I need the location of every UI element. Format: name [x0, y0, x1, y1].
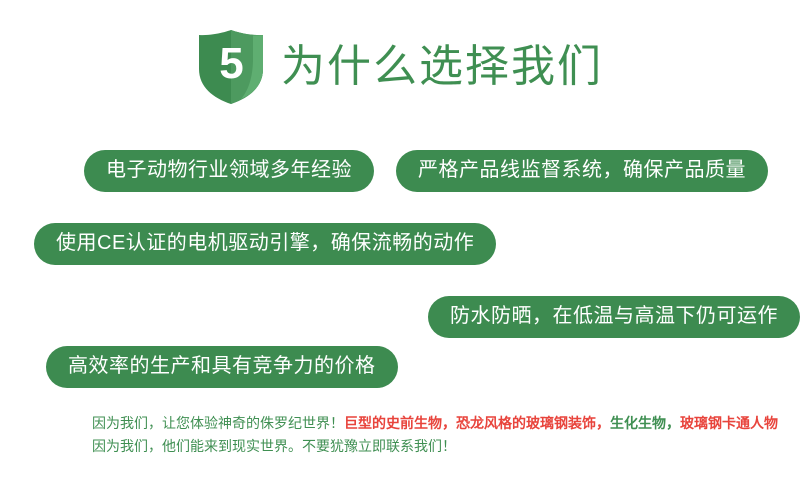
pill-row: 高效率的生产和具有竞争力的价格	[0, 346, 800, 388]
feature-pill[interactable]: 严格产品线监督系统，确保产品质量	[396, 150, 768, 192]
feature-pill[interactable]: 使用CE认证的电机驱动引擎，确保流畅的动作	[34, 223, 496, 265]
footer-segment-highlight-2: 生化生物，	[610, 415, 680, 431]
footer-segment-highlight-3: 玻璃钢卡通人物	[680, 415, 778, 431]
page-title: 为什么选择我们	[281, 45, 603, 89]
footer-segment-highlight-1: 巨型的史前生物，恐龙风格的玻璃钢装饰，	[344, 415, 610, 431]
footer-line-2: 因为我们，他们能来到现实世界。不要犹豫立即联系我们！	[92, 435, 800, 458]
page-header: 5 为什么选择我们	[0, 26, 800, 108]
footer-segment-closing: 因为我们，他们能来到现实世界。不要犹豫立即联系我们！	[92, 438, 456, 454]
feature-pill[interactable]: 电子动物行业领域多年经验	[84, 150, 374, 192]
footer-text-block: 因为我们，让您体验神奇的侏罗纪世界！巨型的史前生物，恐龙风格的玻璃钢装饰，生化生…	[0, 412, 800, 457]
pill-row: 使用CE认证的电机驱动引擎，确保流畅的动作	[0, 223, 800, 265]
feature-pill[interactable]: 高效率的生产和具有竞争力的价格	[46, 346, 398, 388]
feature-pill-list: 电子动物行业领域多年经验 严格产品线监督系统，确保产品质量 使用CE认证的电机驱…	[0, 150, 800, 400]
footer-line-1: 因为我们，让您体验神奇的侏罗纪世界！巨型的史前生物，恐龙风格的玻璃钢装饰，生化生…	[92, 412, 800, 435]
badge-number: 5	[197, 29, 265, 105]
feature-pill[interactable]: 防水防晒，在低温与高温下仍可运作	[428, 296, 800, 338]
footer-segment-intro: 因为我们，让您体验神奇的侏罗纪世界！	[92, 415, 344, 431]
pill-row: 防水防晒，在低温与高温下仍可运作	[0, 296, 800, 338]
pill-row: 电子动物行业领域多年经验 严格产品线监督系统，确保产品质量	[0, 150, 800, 192]
shield-badge: 5	[197, 29, 265, 105]
